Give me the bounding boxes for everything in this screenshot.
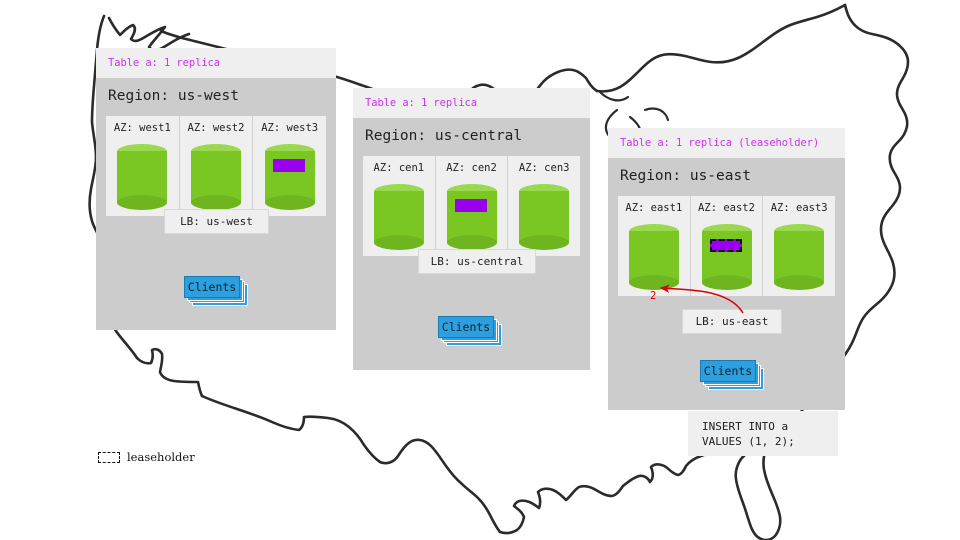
az-cell-west2: AZ: west2 [180, 116, 254, 216]
node-cylinder-cen1 [374, 184, 424, 250]
clients-label[interactable]: Clients [700, 360, 756, 382]
az-strip-us-central: AZ: cen1 AZ: cen2 AZ: cen3 [363, 156, 580, 256]
replica-header-label: Table a: 1 replica [365, 97, 477, 109]
region-title-us-central: Region: us-central [365, 128, 522, 144]
node-cylinder-cen3 [519, 184, 569, 250]
az-label: AZ: east3 [763, 202, 835, 214]
az-label: AZ: east2 [691, 202, 763, 214]
az-label: AZ: west3 [253, 122, 326, 134]
clients-us-east[interactable]: Clients [700, 360, 764, 390]
az-strip-us-east: AZ: east1 AZ: east2 AZ: east3 [618, 196, 835, 296]
range-replica-west3 [273, 159, 305, 172]
az-label: AZ: cen1 [363, 162, 435, 174]
clients-us-central[interactable]: Clients [438, 316, 502, 346]
region-title-us-west: Region: us-west [108, 88, 239, 104]
az-cell-cen1: AZ: cen1 [363, 156, 436, 256]
load-balancer-us-west[interactable]: LB: us-west [164, 209, 269, 234]
legend-leaseholder: leaseholder [98, 450, 195, 464]
leaseholder-swatch-icon [98, 452, 120, 463]
node-cylinder-west2 [191, 144, 241, 210]
region-panel-us-east: Table a: 1 replica (leaseholder) Region:… [608, 128, 845, 410]
az-strip-us-west: AZ: west1 AZ: west2 AZ: west3 [106, 116, 326, 216]
node-cylinder-east3 [774, 224, 824, 290]
node-cylinder-east1 [629, 224, 679, 290]
az-cell-cen3: AZ: cen3 [508, 156, 580, 256]
sql-statement-note: INSERT INTO a VALUES (1, 2); [688, 411, 838, 456]
replica-header-label: Table a: 1 replica (leaseholder) [620, 137, 819, 149]
region-panel-us-central: Table a: 1 replica Region: us-central AZ… [353, 88, 590, 370]
az-cell-west3: AZ: west3 [253, 116, 326, 216]
range-replica-cen2 [455, 199, 487, 212]
az-label: AZ: west1 [106, 122, 179, 134]
clients-us-west[interactable]: Clients [184, 276, 248, 306]
az-label: AZ: west2 [180, 122, 253, 134]
node-cylinder-west3 [265, 144, 315, 210]
legend-label: leaseholder [127, 450, 195, 464]
az-cell-west1: AZ: west1 [106, 116, 180, 216]
az-label: AZ: cen2 [436, 162, 508, 174]
diagram-canvas: Table a: 1 replica Region: us-west AZ: w… [0, 0, 960, 540]
az-cell-cen2: AZ: cen2 [436, 156, 509, 256]
node-cylinder-cen2 [447, 184, 497, 250]
load-balancer-us-east[interactable]: LB: us-east [682, 309, 782, 334]
load-balancer-us-central[interactable]: LB: us-central [418, 249, 536, 274]
clients-label[interactable]: Clients [184, 276, 240, 298]
node-cylinder-west1 [117, 144, 167, 210]
range-replica-leaseholder-east2 [710, 239, 742, 252]
replica-header-us-west: Table a: 1 replica [96, 48, 336, 78]
arrow-step-label: 2 [650, 290, 656, 302]
az-label: AZ: cen3 [508, 162, 580, 174]
az-cell-east3: AZ: east3 [763, 196, 835, 296]
az-cell-east1: AZ: east1 [618, 196, 691, 296]
az-cell-east2: AZ: east2 [691, 196, 764, 296]
node-cylinder-east2 [702, 224, 752, 290]
replica-header-label: Table a: 1 replica [108, 57, 220, 69]
az-label: AZ: east1 [618, 202, 690, 214]
replica-header-us-east: Table a: 1 replica (leaseholder) [608, 128, 845, 158]
region-title-us-east: Region: us-east [620, 168, 751, 184]
replica-header-us-central: Table a: 1 replica [353, 88, 590, 118]
clients-label[interactable]: Clients [438, 316, 494, 338]
region-panel-us-west: Table a: 1 replica Region: us-west AZ: w… [96, 48, 336, 330]
